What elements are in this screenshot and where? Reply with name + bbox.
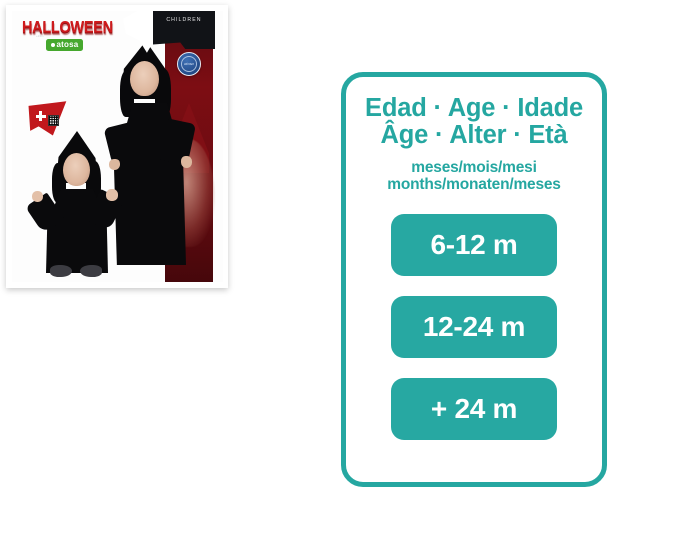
child-face — [130, 61, 159, 96]
foot-left — [50, 265, 72, 277]
atosa-dot-icon — [51, 43, 55, 47]
age-option-list: 6-12 m 12-24 m + 24 m — [346, 214, 602, 440]
foot-right — [80, 265, 102, 277]
age-subtitle-line-1: meses/mois/mesi — [411, 159, 536, 176]
atosa-logo-badge: atosa — [46, 39, 83, 51]
splat-triangle — [26, 99, 68, 137]
age-option-plus-24m[interactable]: + 24 m — [391, 378, 557, 440]
age-option-label: 12-24 m — [423, 311, 525, 343]
age-option-label: + 24 m — [431, 393, 517, 425]
certification-splat-icon — [26, 99, 68, 137]
qr-code-icon — [48, 115, 59, 126]
child-model-seated — [32, 131, 118, 281]
age-subtitle-line-2: months/monaten/meses — [346, 176, 602, 194]
age-option-6-12m[interactable]: 6-12 m — [391, 214, 557, 276]
halloween-logo: HALLOWEEN — [22, 19, 113, 37]
age-title-line-1: Edad · Age · Idade — [365, 94, 583, 122]
atosa-logo-label: atosa — [57, 40, 79, 49]
children-tag-label: CHILDREN — [153, 17, 215, 23]
age-option-12-24m[interactable]: 12-24 m — [391, 296, 557, 358]
hand-right — [106, 189, 118, 201]
hand-left — [32, 191, 43, 202]
age-size-card: Edad · Age · Idade Âge · Alter · Età mes… — [341, 72, 607, 487]
age-option-label: 6-12 m — [431, 229, 518, 261]
cross-icon-bar — [36, 115, 46, 118]
children-size-tag: CHILDREN — [153, 11, 215, 49]
hand-right — [181, 156, 192, 168]
seal-label: atosa — [178, 61, 200, 66]
child-model-standing — [108, 41, 192, 267]
age-title-line-2: Âge · Alter · Età — [346, 122, 602, 149]
child-face — [63, 153, 90, 186]
packaging-artwork: CHILDREN 6-12m 12-24m +24m atosa HALLOWE… — [12, 11, 223, 282]
product-packaging-image: CHILDREN 6-12m 12-24m +24m atosa HALLOWE… — [6, 5, 228, 288]
age-card-title: Edad · Age · Idade Âge · Alter · Età — [346, 95, 602, 150]
age-card-subtitle: meses/mois/mesi months/monaten/meses — [346, 159, 602, 194]
brand-seal-badge: atosa — [177, 52, 201, 76]
